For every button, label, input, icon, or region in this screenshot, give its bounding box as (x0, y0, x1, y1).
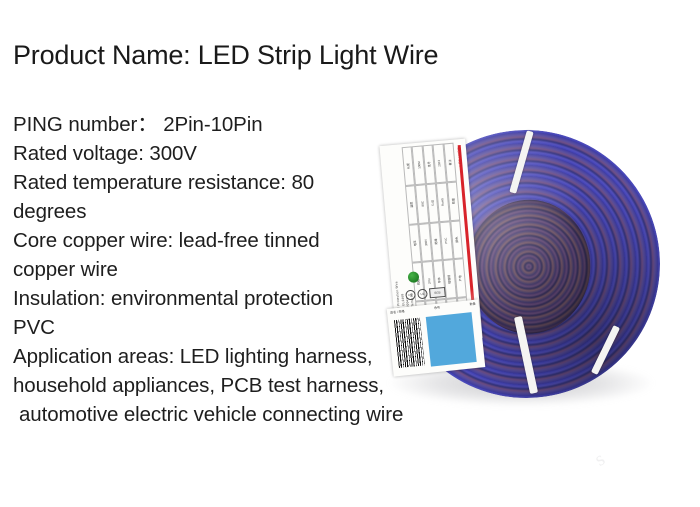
page-title: Product Name: LED Strip Light Wire (13, 40, 438, 71)
spec-line-insulation-1: Insulation: environmental protection (13, 284, 483, 313)
spec-line-ping-number: PING number： 2Pin-10Pin (13, 110, 483, 139)
spec-line-application-3: automotive electric vehicle connecting w… (13, 400, 483, 429)
spec-line-application-1: Application areas: LED lighting harness, (13, 342, 483, 371)
watermark: s (591, 447, 611, 471)
spec-line-rated-temperature-2: degrees (13, 197, 483, 226)
specification-list: PING number： 2Pin-10Pin Rated voltage: 3… (13, 110, 483, 429)
spec-line-core-copper-wire-1: Core copper wire: lead-free tinned (13, 226, 483, 255)
product-spec-page: ROHS Environmental Protection Wire Speci… (0, 0, 700, 507)
spec-line-core-copper-wire-2: copper wire (13, 255, 483, 284)
spec-line-rated-temperature-1: Rated temperature resistance: 80 (13, 168, 483, 197)
spec-line-application-2: household appliances, PCB test harness, (13, 371, 483, 400)
spec-line-insulation-2: PVC (13, 313, 483, 342)
spec-line-rated-voltage: Rated voltage: 300V (13, 139, 483, 168)
